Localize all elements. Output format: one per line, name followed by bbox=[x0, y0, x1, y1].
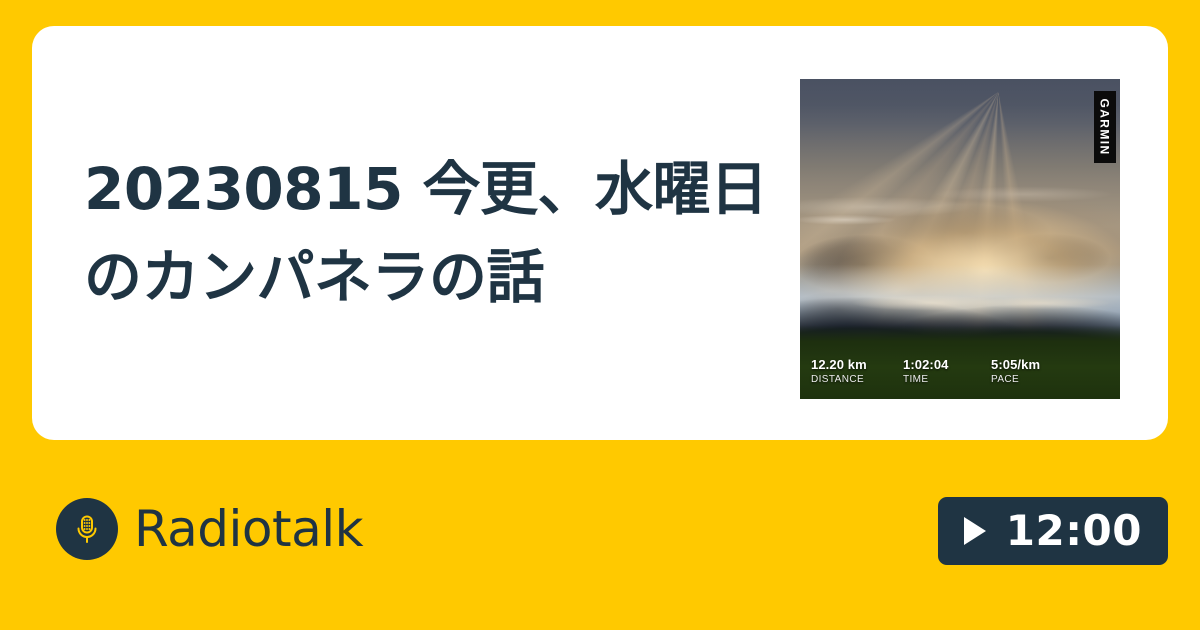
activity-stats-overlay: 12.20 km DISTANCE 1:02:04 TIME 5:05/km P… bbox=[811, 358, 1040, 385]
page-title: 20230815 今更、水曜日のカンパネラの話 bbox=[84, 145, 804, 321]
stat-pace-label: PACE bbox=[991, 374, 1040, 386]
stat-distance-label: DISTANCE bbox=[811, 374, 883, 386]
play-button[interactable]: 12:00 bbox=[938, 497, 1168, 565]
brand-lockup[interactable]: Radiotalk bbox=[56, 498, 363, 560]
title-region: 20230815 今更、水曜日のカンパネラの話 bbox=[84, 26, 804, 440]
stat-time: 1:02:04 TIME bbox=[903, 358, 971, 385]
footer-bar: Radiotalk 12:00 bbox=[0, 440, 1200, 630]
episode-thumbnail: GARMIN 12.20 km DISTANCE 1:02:04 TIME 5:… bbox=[800, 79, 1120, 399]
garmin-logo-icon: GARMIN bbox=[1094, 91, 1116, 163]
stat-time-value: 1:02:04 bbox=[903, 358, 971, 373]
content-card: 20230815 今更、水曜日のカンパネラの話 GARMIN 12.20 km … bbox=[32, 26, 1168, 440]
garmin-logo-label: GARMIN bbox=[1098, 98, 1112, 155]
og-card-page: 20230815 今更、水曜日のカンパネラの話 GARMIN 12.20 km … bbox=[0, 0, 1200, 630]
stat-time-label: TIME bbox=[903, 374, 971, 386]
stat-pace-value: 5:05/km bbox=[991, 358, 1040, 373]
stat-distance-value: 12.20 km bbox=[811, 358, 883, 373]
duration-label: 12:00 bbox=[1006, 510, 1142, 552]
content-card-inner: 20230815 今更、水曜日のカンパネラの話 GARMIN 12.20 km … bbox=[32, 26, 1168, 440]
stat-distance: 12.20 km DISTANCE bbox=[811, 358, 883, 385]
stat-pace: 5:05/km PACE bbox=[991, 358, 1040, 385]
brand-name: Radiotalk bbox=[134, 504, 363, 554]
microphone-icon bbox=[56, 498, 118, 560]
play-icon bbox=[964, 517, 986, 545]
thumbnail-photo bbox=[800, 79, 1120, 399]
